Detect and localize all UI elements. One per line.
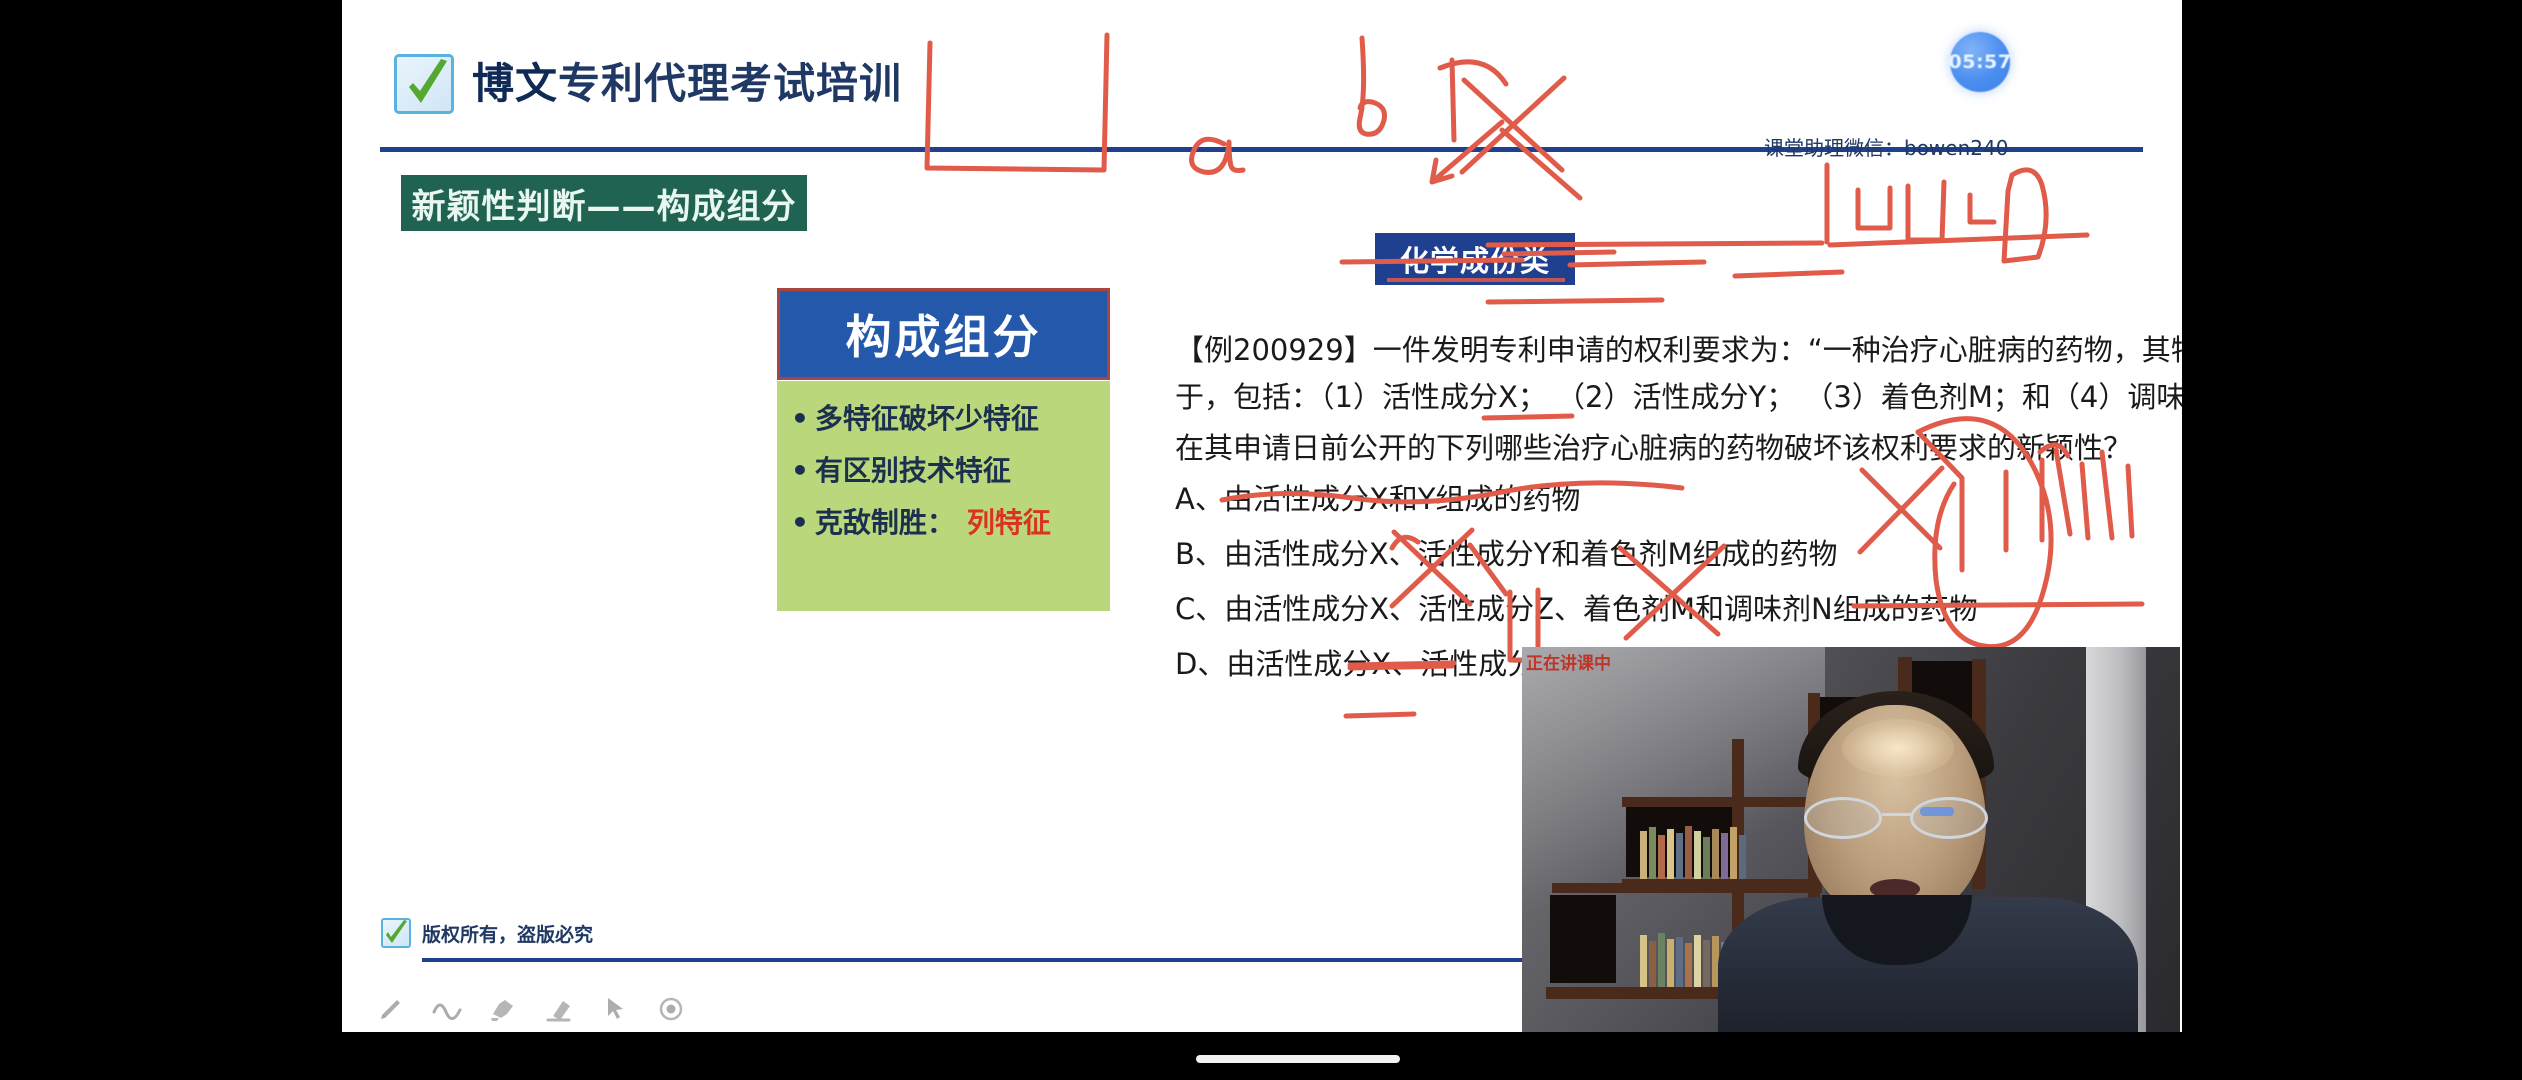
screen: 博文专利代理考试培训 课堂助理微信：bowen240 新颖性判断——构成组分 化… — [0, 0, 2522, 1080]
ink-x-stroke-1 — [1464, 80, 1562, 170]
lens-right — [1910, 797, 1988, 839]
ink-horizontal-right — [1830, 235, 2087, 245]
lens-left — [1804, 797, 1882, 839]
question-line-2: 于，包括：（1）活性成分X； （2）活性成分Y； （3）着色剂M；和（4）调味剂… — [1175, 383, 2175, 412]
bullet-dot-icon: • — [791, 509, 809, 537]
ink-arrow-left — [1432, 122, 1502, 182]
ink-scribble-1 — [1858, 188, 1890, 228]
bullet-dot-icon: • — [791, 457, 809, 485]
laser-pointer-icon[interactable] — [656, 994, 686, 1024]
highlighter-icon[interactable] — [488, 994, 518, 1024]
ink-underline-y — [1570, 262, 1704, 265]
timer-value: 05:57 — [1949, 51, 2012, 73]
glasses-bridge — [1882, 813, 1912, 816]
brand-title: 博文专利代理考试培训 — [472, 50, 902, 111]
ink-letter-a — [1192, 139, 1243, 172]
home-indicator — [1196, 1055, 1400, 1063]
ink-x-stroke-2 — [1462, 78, 1564, 172]
brand-strong: 博文 — [472, 59, 558, 108]
cursor-arrow-icon[interactable] — [600, 994, 630, 1024]
brand-rest: 专利代理考试培训 — [558, 59, 902, 108]
forehead-highlight — [1842, 719, 1954, 777]
bullet-text: 有区别技术特征 — [815, 449, 1011, 489]
countdown-timer-badge[interactable]: 05:57 — [1950, 32, 2010, 92]
option-c: C、由活性成分X、活性成分Z、着色剂M和调味剂N组成的药物 — [1175, 595, 2175, 624]
footer-badge-icon — [381, 918, 411, 948]
presenter-video[interactable]: 正在讲课中 — [1522, 647, 2180, 1032]
concept-card-header: 构成组分 — [777, 288, 1110, 380]
curve-line-icon[interactable] — [432, 994, 462, 1024]
option-a: A、由活性成分X和Y组成的药物 — [1175, 485, 2175, 514]
presenter-glasses — [1802, 797, 1992, 841]
ink-underline-n — [1735, 272, 1842, 276]
shelf-board — [1622, 797, 1822, 807]
ink-scribble-2 — [1908, 182, 1944, 240]
ink-scribble-3 — [1970, 195, 1994, 222]
lens-glint — [1920, 807, 1954, 816]
ink-tick — [1452, 60, 1454, 140]
list-item: • 有区别技术特征 — [791, 449, 1110, 489]
shelf-cubby — [1550, 895, 1616, 983]
bullet-text: 克敌制胜： — [815, 501, 955, 541]
concept-card-body: • 多特征破坏少特征 • 有区别技术特征 • 克敌制胜： 列特征 — [777, 381, 1110, 611]
section-banner-label: 新颖性判断——构成组分 — [412, 179, 797, 228]
assistant-wechat-note: 课堂助理微信：bowen240 — [1764, 132, 2008, 161]
bullet-highlight: 列特征 — [967, 501, 1051, 541]
ink-hook — [1440, 62, 1506, 84]
check-glyph — [403, 57, 451, 115]
ink-letter-b — [1359, 38, 1384, 134]
ink-optD-u1 — [1346, 714, 1414, 716]
option-b: B、由活性成分X、活性成分Y和着色剂M组成的药物 — [1175, 540, 2175, 569]
bullet-text: 多特征破坏少特征 — [815, 397, 1039, 437]
question-line-3: 在其申请日前公开的下列哪些治疗心脏病的药物破坏该权利要求的新颖性？ — [1175, 434, 2175, 463]
copyright-text: 版权所有，盗版必究 — [422, 920, 593, 947]
concept-card: 构成组分 • 多特征破坏少特征 • 有区别技术特征 • 克敌制胜： 列特征 — [777, 288, 1110, 515]
shelf-board — [1552, 883, 1822, 893]
list-item: • 克敌制胜： 列特征 — [791, 501, 1110, 541]
eraser-icon[interactable] — [544, 994, 574, 1024]
section-banner: 新颖性判断——构成组分 — [401, 175, 807, 231]
pen-icon[interactable] — [376, 994, 406, 1024]
check-glyph — [383, 920, 409, 946]
question-line-1: 【例200929】一件发明专利申请的权利要求为：“一种治疗心脏病的药物，其特征在 — [1175, 336, 2175, 365]
category-chip-underline-ink — [1387, 278, 1565, 282]
ink-underline-line3 — [1488, 300, 1662, 302]
bullet-dot-icon: • — [791, 405, 809, 433]
list-item: • 多特征破坏少特征 — [791, 397, 1110, 437]
video-watermark: 正在讲课中 — [1526, 649, 1611, 674]
books-row — [1640, 823, 1802, 879]
green-check-badge-icon — [394, 54, 454, 114]
concept-card-title: 构成组分 — [846, 301, 1042, 367]
category-chip-label: 化学成份类 — [1400, 238, 1550, 280]
ink-arrow-diag — [1502, 130, 1580, 198]
ink-scribble-4 — [2004, 170, 2046, 261]
